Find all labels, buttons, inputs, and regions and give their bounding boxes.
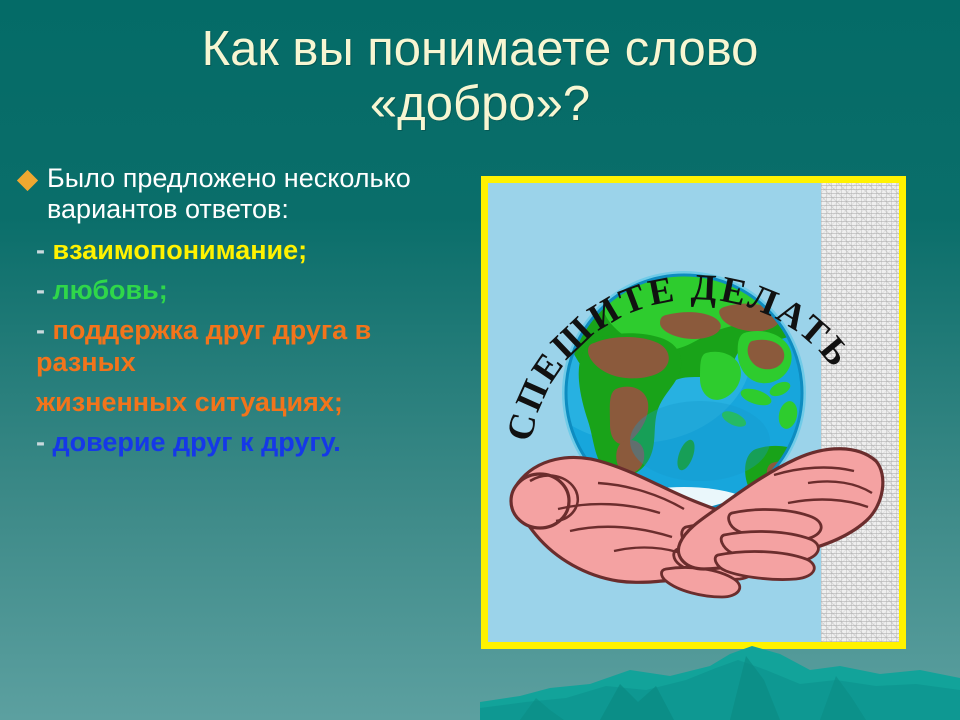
poster-image-frame: СПЕШИТЕ ДЕЛАТЬ ДОБРО! [481, 176, 906, 649]
poster-image: СПЕШИТЕ ДЕЛАТЬ ДОБРО! [488, 183, 899, 642]
list-item-label: доверие друг к другу. [53, 427, 341, 457]
list-item: - любовь; [14, 275, 466, 306]
list-item-label: жизненных ситуациях; [36, 387, 343, 417]
list-item: - взаимопонимание; [14, 235, 466, 266]
title-line-1: Как вы понимаете слово [60, 22, 900, 77]
list-item: - поддержка друг друга в разных [14, 315, 466, 378]
poster-illustration: СПЕШИТЕ ДЕЛАТЬ ДОБРО! [488, 183, 899, 642]
list-item-label: поддержка друг друга в разных [36, 315, 371, 376]
list-item: жизненных ситуациях; [14, 387, 466, 418]
list-dash: - [36, 275, 45, 305]
body-content: Было предложено несколько вариантов отве… [14, 163, 466, 459]
slide: Как вы понимаете слово «добро»? Было пре… [0, 0, 960, 720]
diamond-bullet-icon [17, 170, 38, 191]
list-dash: - [36, 235, 45, 265]
bullet-item-main: Было предложено несколько вариантов отве… [14, 163, 466, 226]
decorative-mountains [480, 640, 960, 720]
page-title: Как вы понимаете слово «добро»? [60, 22, 900, 132]
list-item-label: любовь; [53, 275, 168, 305]
list-dash: - [36, 315, 45, 345]
list-item-label: взаимопонимание; [53, 235, 308, 265]
list-dash: - [36, 427, 45, 457]
bullet-main-text: Было предложено несколько вариантов отве… [47, 163, 466, 226]
title-line-2: «добро»? [60, 77, 900, 132]
list-item: - доверие друг к другу. [14, 427, 466, 458]
